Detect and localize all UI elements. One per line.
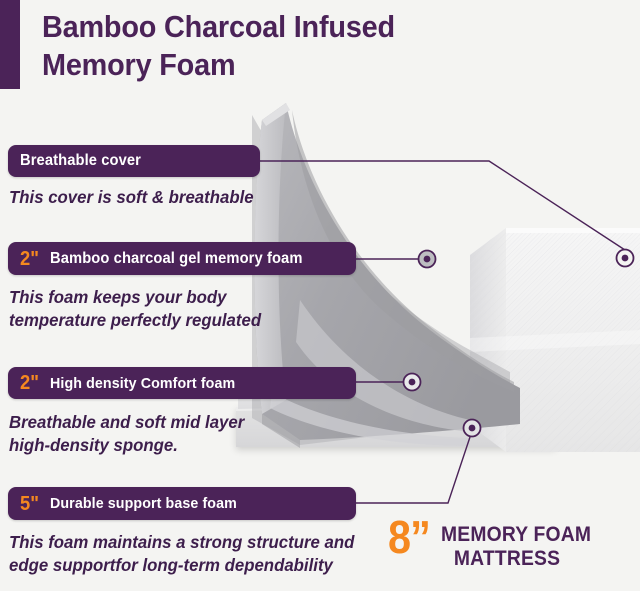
page-title-line-1: Bamboo Charcoal Infused <box>42 8 563 46</box>
product-size: 8” <box>388 517 430 557</box>
product-size-number: 8 <box>388 511 410 563</box>
description-line: edge supportfor long-term dependability <box>9 554 354 577</box>
connector-gel-foam <box>356 251 436 268</box>
description-line: temperature perfectly regulated <box>9 309 261 332</box>
description-line: This foam maintains a strong structure a… <box>9 531 354 554</box>
layer-depth-value: 5" <box>20 494 39 514</box>
layer-label-breathable-cover[interactable]: Breathable cover <box>8 145 260 177</box>
layer-base-foam-shape <box>236 400 556 447</box>
page-title-line-2: Memory Foam <box>42 46 563 84</box>
product-name: MEMORY FOAM MATTRESS <box>441 523 591 571</box>
layer-depth-value: 2" <box>20 373 39 393</box>
description-line: high-density sponge. <box>9 434 244 457</box>
connector-base-foam <box>356 420 481 504</box>
layer-label-text: Bamboo charcoal gel memory foam <box>50 251 303 267</box>
mattress-cover-body <box>470 228 640 452</box>
accent-bar <box>0 0 20 89</box>
layer-label-text: Breathable cover <box>20 153 141 169</box>
layer-label-high-density-comfort-foam[interactable]: 2" High density Comfort foam <box>8 367 356 399</box>
product-name-line-1: MEMORY FOAM <box>441 523 591 547</box>
layer-description-high-density-comfort-foam: Breathable and soft mid layer high-densi… <box>9 411 244 457</box>
description-line: This foam keeps your body <box>9 286 261 309</box>
description-line: This cover is soft & breathable <box>9 186 254 209</box>
product-callout: 8” MEMORY FOAM MATTRESS <box>388 517 604 571</box>
infographic-root: Bamboo Charcoal Infused Memory Foam <box>0 0 640 591</box>
page-title: Bamboo Charcoal Infused Memory Foam <box>42 8 563 84</box>
connector-comfort-foam <box>356 374 421 391</box>
product-name-line-2: MATTRESS <box>441 547 591 571</box>
product-size-unit: ” <box>410 511 430 563</box>
layer-description-durable-support-base-foam: This foam maintains a strong structure a… <box>9 531 354 577</box>
layer-label-durable-support-base-foam[interactable]: 5" Durable support base foam <box>8 487 356 520</box>
layer-depth-value: 2" <box>20 249 39 269</box>
layer-description-breathable-cover: This cover is soft & breathable <box>9 186 254 209</box>
layer-description-bamboo-charcoal-gel-memory-foam: This foam keeps your body temperature pe… <box>9 286 261 332</box>
description-line: Breathable and soft mid layer <box>9 411 244 434</box>
layer-label-text: Durable support base foam <box>50 496 237 511</box>
layer-label-bamboo-charcoal-gel-memory-foam[interactable]: 2" Bamboo charcoal gel memory foam <box>8 242 356 275</box>
layer-label-text: High density Comfort foam <box>50 376 235 391</box>
